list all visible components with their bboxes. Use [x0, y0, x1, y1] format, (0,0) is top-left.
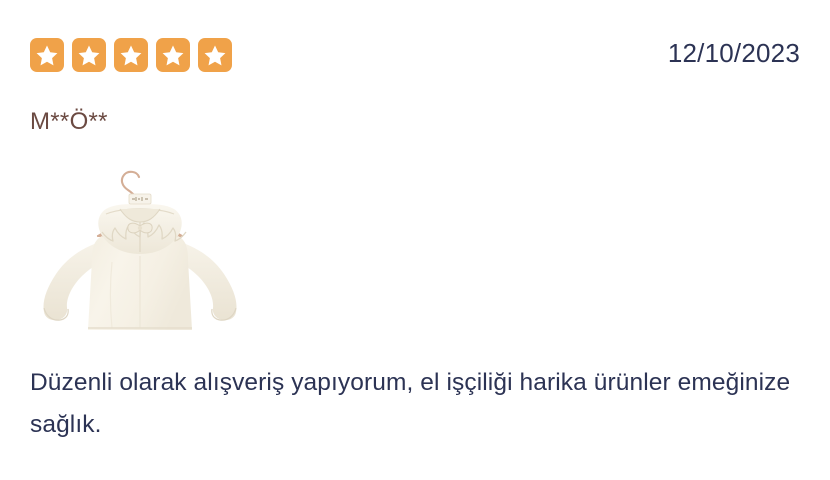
- product-review-card: 12/10/2023 M**Ö**: [0, 0, 830, 480]
- star-icon-4: [156, 38, 190, 72]
- rating-stars: [30, 38, 232, 72]
- star-icon-5: [198, 38, 232, 72]
- star-icon-1: [30, 38, 64, 72]
- review-header: 12/10/2023: [0, 0, 830, 100]
- star-icon-2: [72, 38, 106, 72]
- review-body-text: Düzenli olarak alışveriş yapıyorum, el i…: [30, 362, 806, 446]
- reviewer-name: M**Ö**: [30, 108, 108, 137]
- star-icon-3: [114, 38, 148, 72]
- review-date: 12/10/2023: [668, 40, 800, 66]
- baby-blouse-photo: [16, 152, 264, 348]
